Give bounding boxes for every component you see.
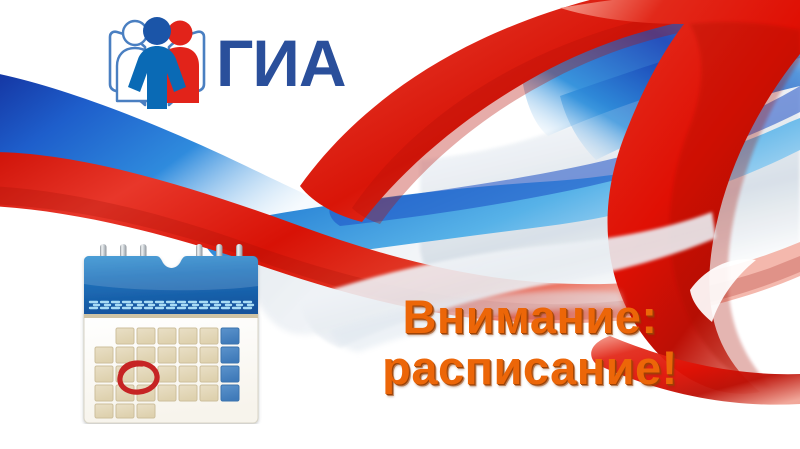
calendar-day-cell xyxy=(200,366,218,382)
calendar-day-cell xyxy=(158,347,176,363)
headline-text: Внимание: расписание! xyxy=(330,292,730,394)
headline-line-1: Внимание: xyxy=(330,292,730,343)
calendar-day-cell xyxy=(116,347,134,363)
calendar-day-cell xyxy=(200,328,218,344)
headline-line-2: расписание! xyxy=(330,343,730,394)
calendar-day-cell xyxy=(137,328,155,344)
calendar-day-cell xyxy=(95,385,113,401)
gia-schedule-banner: ГИА xyxy=(0,0,800,449)
gia-logo: ГИА xyxy=(104,8,364,113)
gia-emblem-icon xyxy=(104,9,210,113)
calendar-day-cell xyxy=(158,385,176,401)
calendar-day-cell xyxy=(137,404,155,418)
calendar-day-cell xyxy=(95,347,113,363)
calendar-weekend-cell xyxy=(221,328,239,344)
gia-wordmark: ГИА xyxy=(216,30,346,96)
calendar-day-cell xyxy=(116,328,134,344)
calendar-day-cell xyxy=(158,366,176,382)
calendar-weekend-cell xyxy=(221,366,239,382)
calendar-day-cell xyxy=(179,347,197,363)
calendar-day-cell xyxy=(179,328,197,344)
calendar-day-cell xyxy=(95,404,113,418)
calendar-icon xyxy=(76,240,266,424)
calendar-day-cell xyxy=(179,366,197,382)
calendar-day-cell xyxy=(200,385,218,401)
calendar-weekend-cell xyxy=(221,347,239,363)
calendar-day-cell xyxy=(179,385,197,401)
calendar-day-cell xyxy=(116,404,134,418)
calendar-day-cell xyxy=(200,347,218,363)
calendar-day-cell xyxy=(158,328,176,344)
calendar-day-cell xyxy=(95,366,113,382)
calendar-weekend-cell xyxy=(221,385,239,401)
